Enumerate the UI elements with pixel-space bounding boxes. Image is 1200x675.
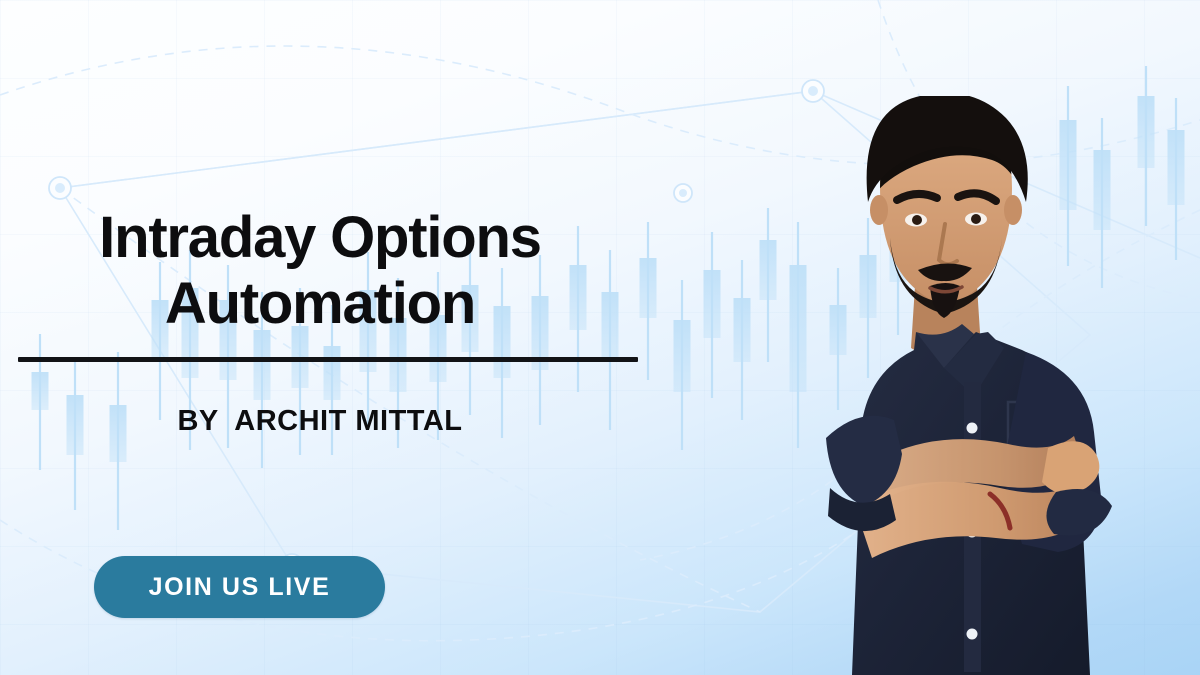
presenter-byline: BY ARCHIT MITTAL	[0, 405, 640, 438]
banner-content: Intraday Options Automation BY ARCHIT MI…	[0, 0, 660, 675]
promo-banner: Intraday Options Automation BY ARCHIT MI…	[0, 0, 1200, 675]
presenter-photo	[812, 96, 1200, 675]
join-us-live-button[interactable]: JOIN US LIVE	[94, 556, 385, 618]
title-divider	[18, 357, 638, 362]
page-title: Intraday Options Automation	[0, 205, 640, 337]
